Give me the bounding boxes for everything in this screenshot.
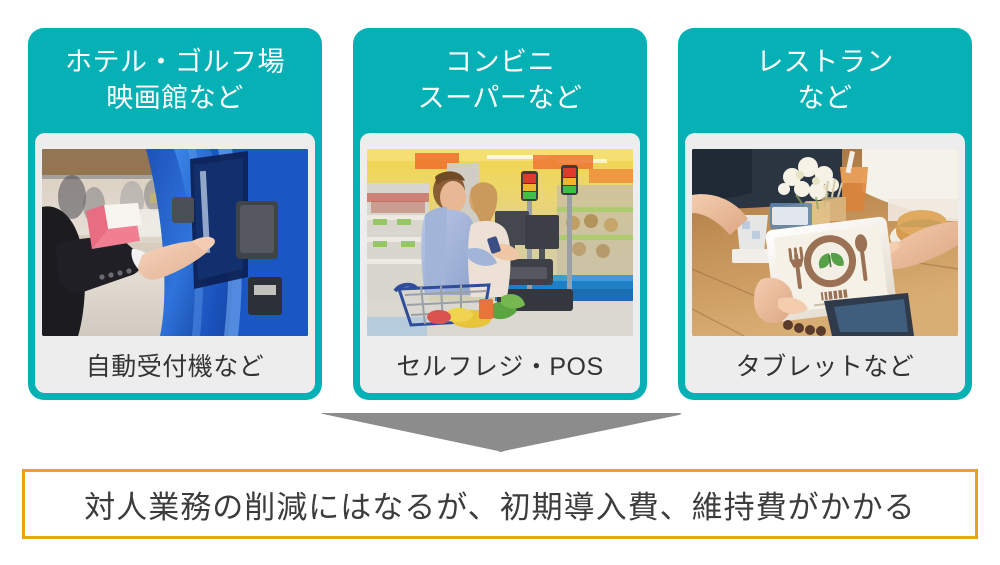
supermarket-self-checkout-photo (367, 149, 633, 336)
card-body: タブレットなど (685, 133, 965, 393)
kiosk-self-checkin-photo (42, 149, 308, 336)
card-caption: タブレットなど (685, 336, 965, 393)
card-body: セルフレジ・POS (360, 133, 640, 393)
summary-banner-text: 対人業務の削減にはなるが、初期導入費、維持費がかかる (84, 482, 915, 527)
card-body: 自動受付機など (35, 133, 315, 393)
card-header-title: コンビニ スーパーなど (353, 28, 647, 133)
service-category-card-row: ホテル・ゴルフ場 映画館など (28, 28, 972, 400)
restaurant-tablet-menu-photo (692, 149, 958, 336)
category-card-restaurant: レストラン など (678, 28, 972, 400)
card-caption: セルフレジ・POS (360, 336, 640, 393)
down-arrow-icon (318, 411, 684, 453)
summary-banner: 対人業務の削減にはなるが、初期導入費、維持費がかかる (22, 469, 978, 539)
card-header-title: ホテル・ゴルフ場 映画館など (28, 28, 322, 133)
category-card-hotel-golf-cinema: ホテル・ゴルフ場 映画館など (28, 28, 322, 400)
card-header-title: レストラン など (678, 28, 972, 133)
category-card-convenience-supermarket: コンビニ スーパーなど (353, 28, 647, 400)
card-caption: 自動受付機など (35, 336, 315, 393)
